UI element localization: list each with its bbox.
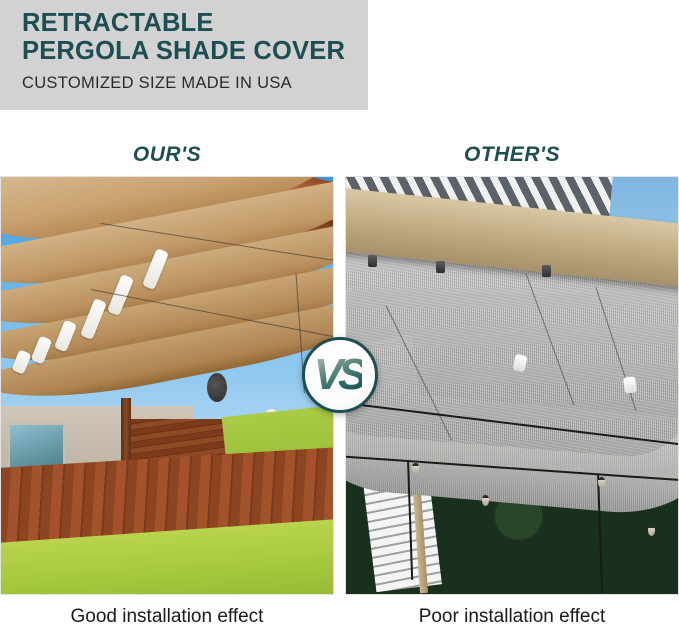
vs-badge: VS — [302, 337, 378, 413]
vs-badge-text: VS — [314, 353, 363, 397]
string-light-bulb — [412, 463, 419, 474]
label-others: OTHER'S — [345, 143, 679, 167]
label-ours: OUR'S — [0, 143, 334, 167]
photo-panel-others — [345, 176, 679, 595]
mesh-clip — [436, 261, 445, 273]
mesh-clip — [542, 265, 551, 277]
caption-poor-installation: Poor installation effect — [345, 606, 679, 628]
caption-good-installation: Good installation effect — [0, 606, 334, 628]
white-fabric-tag — [623, 376, 637, 394]
mesh-clip — [368, 255, 377, 267]
header-banner: RETRACTABLE PERGOLA SHADE COVER CUSTOMIZ… — [0, 0, 368, 110]
photo-panel-ours — [0, 176, 334, 595]
string-light-bulb — [482, 495, 489, 506]
photo-ours-good-installation — [1, 177, 333, 594]
satellite-dish — [207, 373, 227, 402]
string-light-bulb — [648, 525, 655, 536]
header-subtitle: CUSTOMIZED SIZE MADE IN USA — [22, 74, 292, 93]
page-title: RETRACTABLE PERGOLA SHADE COVER — [22, 9, 362, 65]
photo-others-poor-installation — [346, 177, 678, 594]
string-light-bulb — [598, 477, 605, 488]
